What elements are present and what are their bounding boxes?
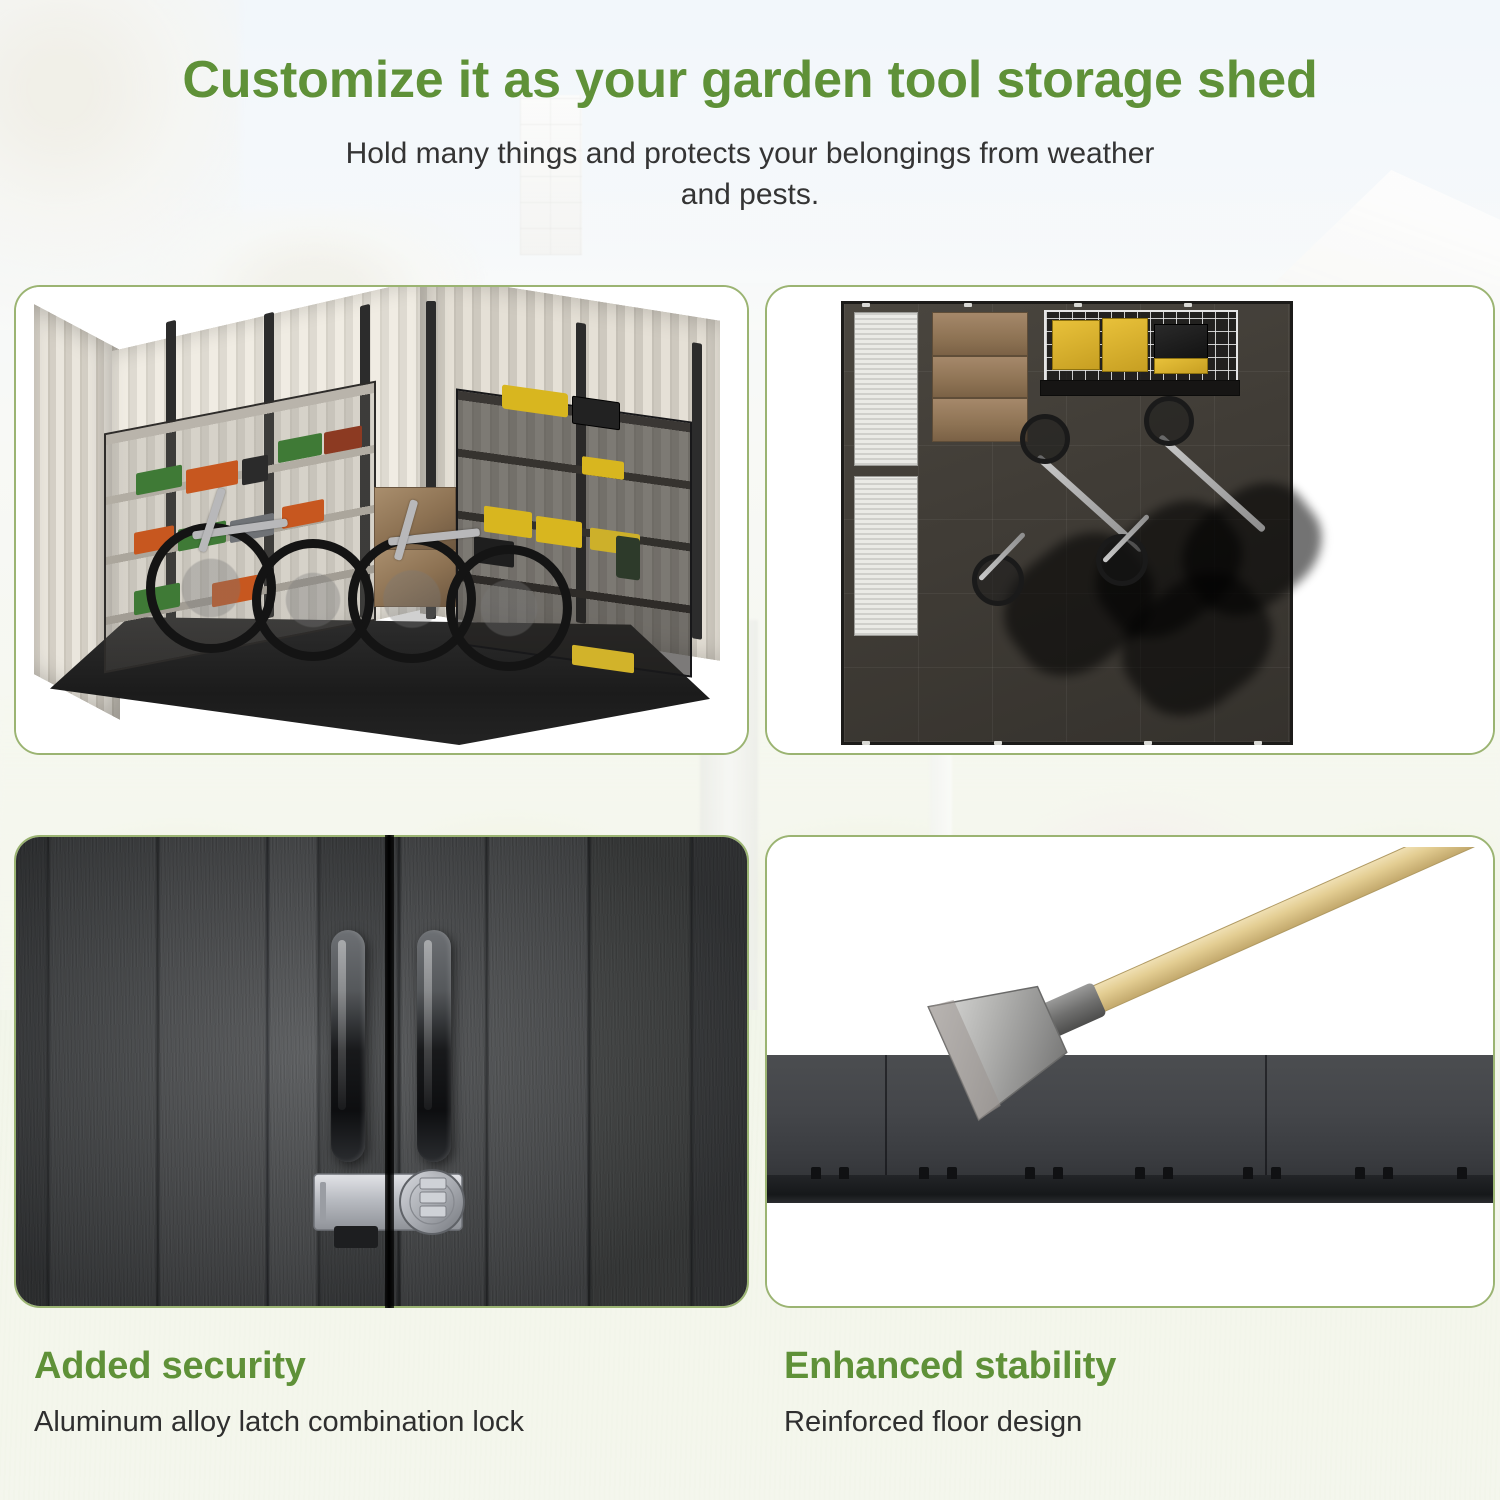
- page-title: Customize it as your garden tool storage…: [0, 0, 1500, 110]
- door-center-gap: [385, 835, 394, 1308]
- carton-top: [932, 312, 1028, 356]
- hasp-staple: [334, 1226, 378, 1248]
- storage-box-dark: [242, 454, 268, 485]
- power-drill: [616, 535, 640, 580]
- feature-security-desc: Aluminum alloy latch combination lock: [34, 1406, 734, 1439]
- bicycle-wheel-front-right: [446, 545, 572, 671]
- floor-notch-bottom-4: [1254, 741, 1262, 745]
- bike-2-wheel-rear: [1144, 396, 1194, 446]
- yellow-tool-case-1: [1052, 320, 1100, 370]
- topdown-floor: [841, 301, 1293, 745]
- shed-interior-illustration: [16, 287, 747, 753]
- carton-bottom: [932, 398, 1028, 442]
- hammer-handle: [1085, 847, 1480, 1015]
- shelf-edge-shadow: [1040, 380, 1240, 396]
- stacked-panels-lower: [854, 476, 918, 636]
- panel-topdown-layout: [765, 285, 1495, 755]
- yellow-tool-case-2: [1102, 318, 1148, 372]
- combination-lock-hasp[interactable]: [312, 1152, 502, 1262]
- floor-notch-bottom-1: [862, 741, 870, 745]
- panel-shed-interior: [14, 285, 749, 755]
- door-handle-left[interactable]: [331, 930, 365, 1162]
- black-tool-case: [1154, 324, 1208, 360]
- floor-notch-top-2: [964, 303, 972, 307]
- topdown-illustration: [767, 287, 1493, 753]
- carton-middle: [932, 356, 1028, 398]
- combination-wheel-1: [420, 1178, 446, 1189]
- yellow-tool-case-3: [1154, 358, 1208, 374]
- stacked-panels-upper: [854, 312, 918, 466]
- floor-notch-top-1: [862, 303, 870, 307]
- feature-security-title: Added security: [34, 1345, 734, 1388]
- hasp-hinge: [320, 1182, 326, 1222]
- floor-notch-top-4: [1184, 303, 1192, 307]
- feature-stability-title: Enhanced stability: [784, 1345, 1484, 1388]
- panel-reinforced-floor: [765, 835, 1495, 1308]
- sledgehammer: [797, 847, 1495, 1177]
- floor-notch-top-3: [1074, 303, 1082, 307]
- floor-notch-bottom-2: [994, 741, 1002, 745]
- bike-1-wheel-rear: [1020, 414, 1070, 464]
- page-subtitle: Hold many things and protects your belon…: [335, 134, 1165, 216]
- header: Customize it as your garden tool storage…: [0, 0, 1500, 216]
- door-handle-right[interactable]: [417, 930, 451, 1162]
- wire-basket-shelf: [1044, 310, 1238, 386]
- feature-added-security: Added security Aluminum alloy latch comb…: [34, 1345, 734, 1439]
- feature-enhanced-stability: Enhanced stability Reinforced floor desi…: [784, 1345, 1484, 1439]
- floor-illustration: [767, 837, 1493, 1306]
- floor-notch-bottom-3: [1144, 741, 1152, 745]
- shed-wall-post-6: [692, 342, 702, 640]
- feature-stability-desc: Reinforced floor design: [784, 1406, 1484, 1439]
- floor-support-rail: [767, 1175, 1493, 1203]
- combination-wheel-2: [420, 1192, 446, 1203]
- combination-wheel-3: [420, 1206, 446, 1217]
